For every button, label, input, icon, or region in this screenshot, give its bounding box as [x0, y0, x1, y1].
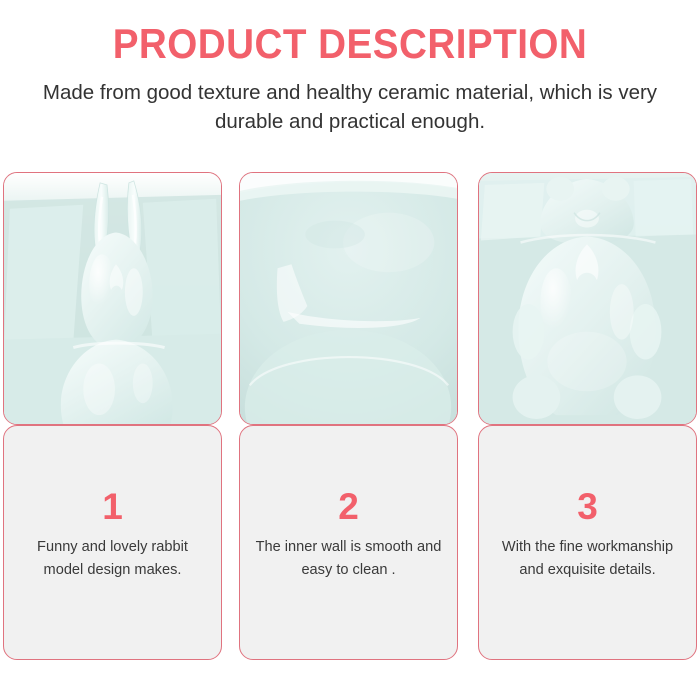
- ceramic-rabbit-divided-dish-closeup-image: [4, 173, 221, 424]
- card-1-body: 1 Funny and lovely rabbit model design m…: [3, 425, 222, 660]
- smooth-mint-bowl-inner-wall-image: [240, 173, 457, 424]
- feature-cards-row: 1 Funny and lovely rabbit model design m…: [0, 172, 700, 662]
- seated-rabbit-figure-detail-image: [479, 173, 696, 424]
- card-2-number: 2: [240, 488, 457, 525]
- card-3-photo: [478, 172, 697, 425]
- card-3-number: 3: [479, 488, 696, 525]
- page-title: PRODUCT DESCRIPTION: [28, 0, 672, 66]
- card-2-caption: The inner wall is smooth and easy to cle…: [240, 536, 457, 581]
- product-description-infographic: PRODUCT DESCRIPTION Made from good textu…: [0, 0, 700, 700]
- card-2-body: 2 The inner wall is smooth and easy to c…: [239, 425, 458, 660]
- card-1-caption: Funny and lovely rabbit model design mak…: [4, 536, 221, 581]
- card-2-photo: [239, 172, 458, 425]
- card-3-body: 3 With the fine workmanship and exquisit…: [478, 425, 697, 660]
- card-1-number: 1: [4, 488, 221, 525]
- card-1-photo: [3, 172, 222, 425]
- feature-card-1: 1 Funny and lovely rabbit model design m…: [3, 172, 222, 660]
- feature-card-2: 2 The inner wall is smooth and easy to c…: [239, 172, 458, 660]
- feature-card-3: 3 With the fine workmanship and exquisit…: [478, 172, 697, 660]
- page-subtitle: Made from good texture and healthy ceram…: [0, 66, 700, 136]
- card-3-caption: With the fine workmanship and exquisite …: [479, 536, 696, 581]
- header: PRODUCT DESCRIPTION Made from good textu…: [0, 0, 700, 136]
